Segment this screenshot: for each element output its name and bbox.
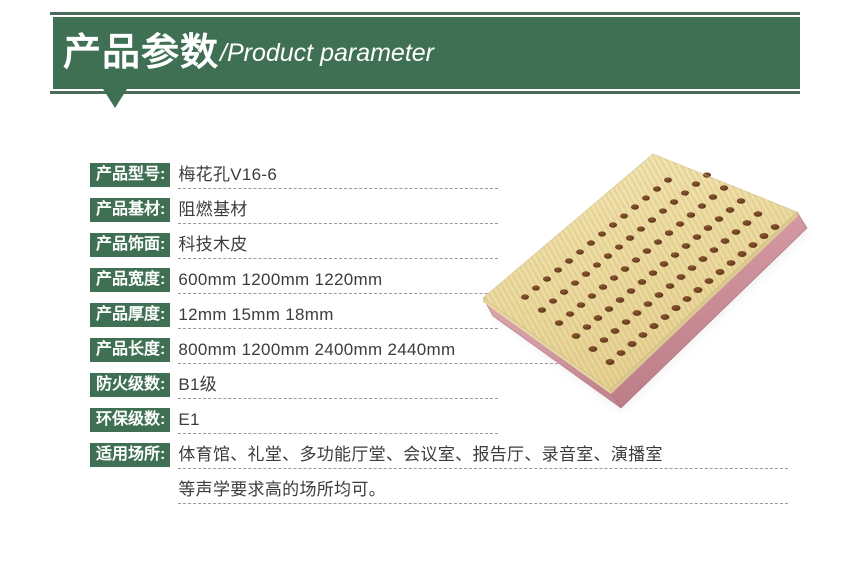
spec-underline (178, 433, 498, 434)
spec-label: 环保级数: (90, 408, 170, 432)
spec-underline-line2 (178, 503, 788, 504)
header-rule-bottom (50, 91, 800, 94)
spec-label: 产品基材: (90, 198, 170, 222)
spec-value-line2: 等声学要求高的场所均可。 (178, 478, 730, 502)
page-title-en: /Product parameter (220, 41, 434, 66)
spec-underline (178, 468, 788, 469)
spec-label: 产品饰面: (90, 233, 170, 257)
header-green-band: 产品参数 /Product parameter (53, 17, 800, 89)
spec-label: 适用场所: (90, 443, 170, 467)
spec-row-applications: 适用场所: 体育馆、礼堂、多功能厅堂、会议室、报告厅、录音室、演播室 等声学要求… (90, 443, 730, 504)
spec-label: 产品长度: (90, 338, 170, 362)
header-title-group: 产品参数 /Product parameter (53, 17, 434, 89)
header-rule-top (50, 12, 800, 15)
spec-value: 体育馆、礼堂、多功能厅堂、会议室、报告厅、录音室、演播室 (178, 443, 730, 467)
spec-label: 产品宽度: (90, 268, 170, 292)
spec-label: 产品厚度: (90, 303, 170, 327)
page-title-cn: 产品参数 (63, 34, 219, 72)
spec-label: 防火级数: (90, 373, 170, 397)
spec-label: 产品型号: (90, 163, 170, 187)
header-pointer-triangle-icon (103, 89, 127, 108)
product-photo-perforated-acoustic-panel (425, 118, 850, 418)
page-header: 产品参数 /Product parameter (0, 0, 850, 108)
spec-value-wrap: 体育馆、礼堂、多功能厅堂、会议室、报告厅、录音室、演播室 等声学要求高的场所均可… (170, 443, 730, 504)
